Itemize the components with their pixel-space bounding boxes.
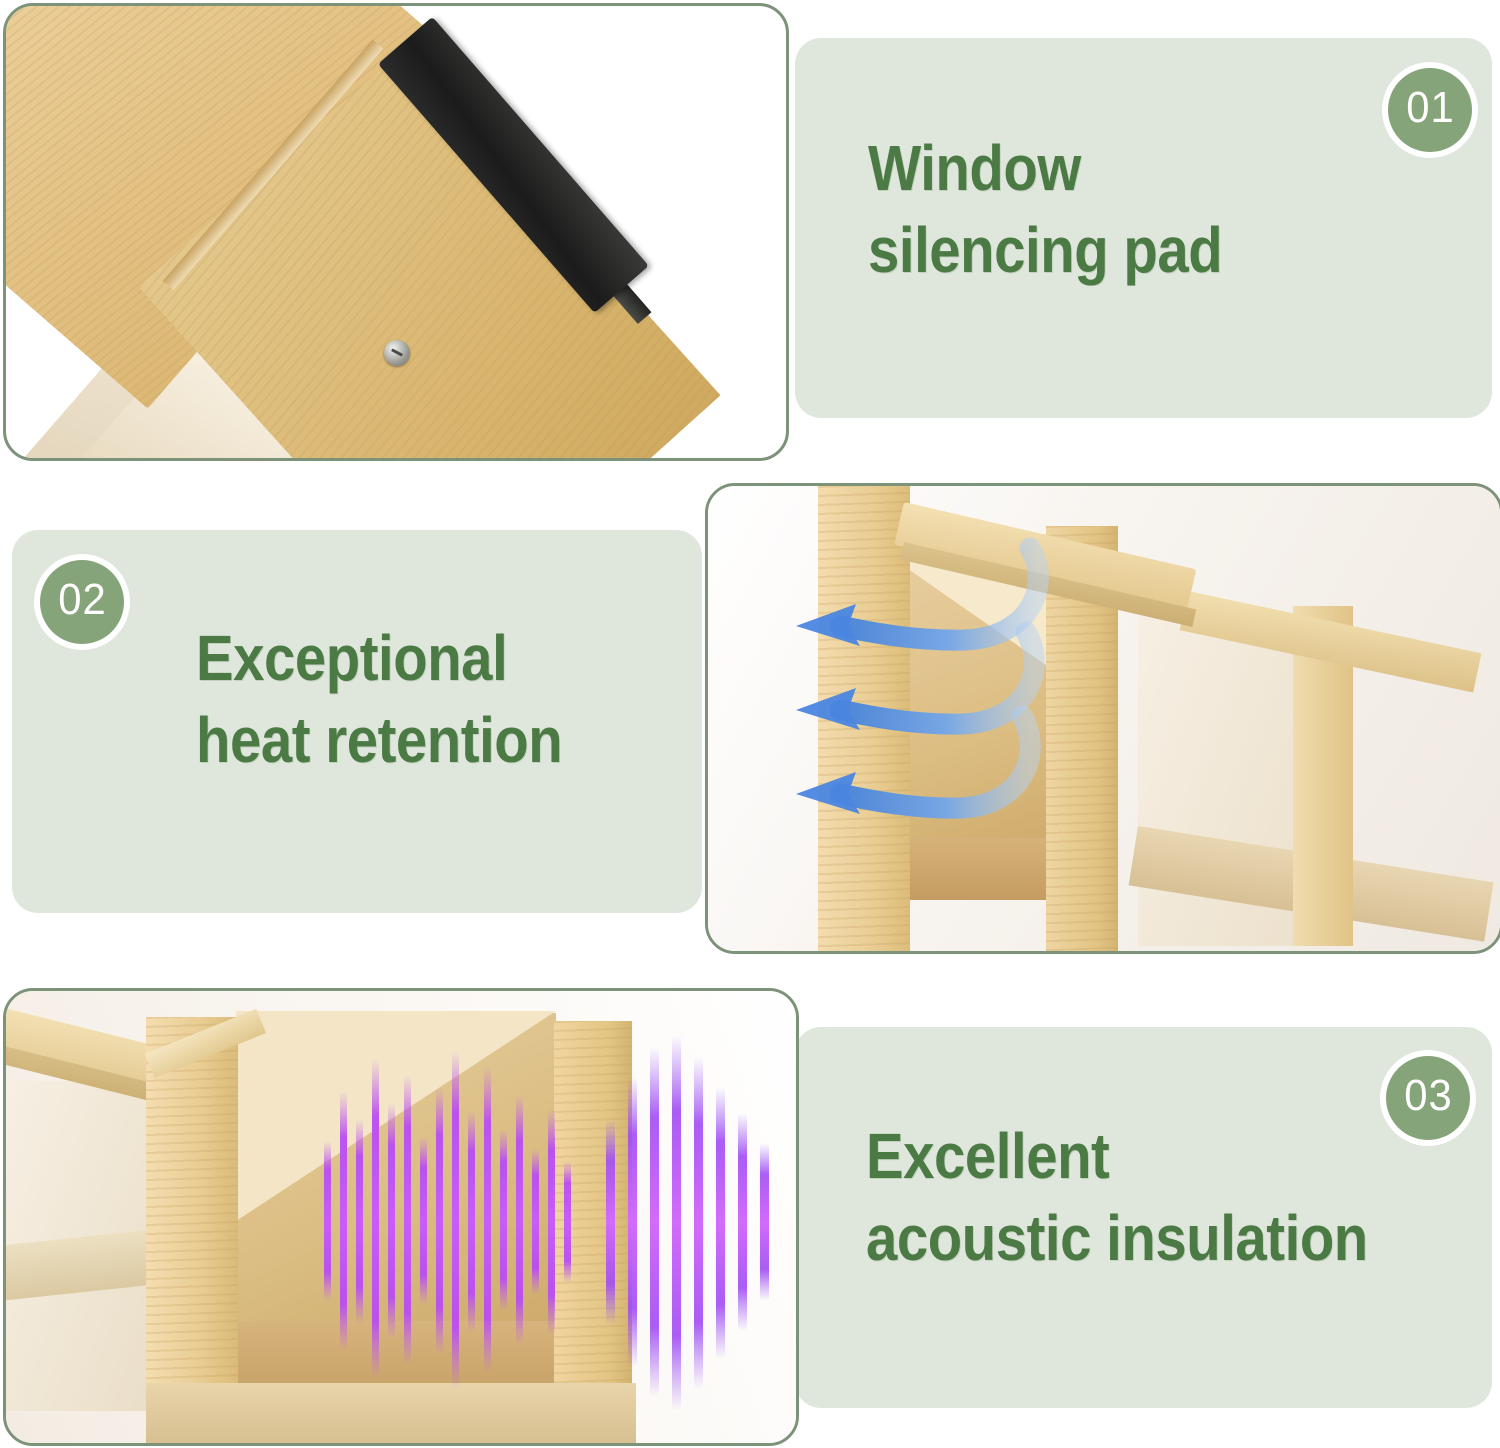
feature-photo-3 — [3, 988, 799, 1446]
feature-badge-number-3: 03 — [1404, 1074, 1452, 1118]
feature-headline-3: Excellent acoustic insulation — [866, 1116, 1429, 1280]
house-opening-diagonal — [236, 1011, 556, 1221]
feature-badge-number-2: 02 — [58, 578, 106, 622]
feature-photo-2 — [705, 483, 1500, 954]
feature-badge-number-1: 01 — [1406, 86, 1454, 130]
roof-corner-illustration — [6, 6, 786, 458]
house-right-post — [554, 1021, 632, 1443]
house-front-post — [146, 1017, 238, 1443]
feature-headline-1: Window silencing pad — [868, 128, 1431, 292]
heat-flow-arrow-3 — [768, 702, 1068, 832]
feature-headline-2: Exceptional heat retention — [196, 618, 724, 782]
feature-photo-1 — [3, 3, 789, 461]
screw-icon — [384, 340, 410, 366]
feature-badge-2: 02 — [34, 554, 130, 650]
house-base — [146, 1383, 636, 1443]
